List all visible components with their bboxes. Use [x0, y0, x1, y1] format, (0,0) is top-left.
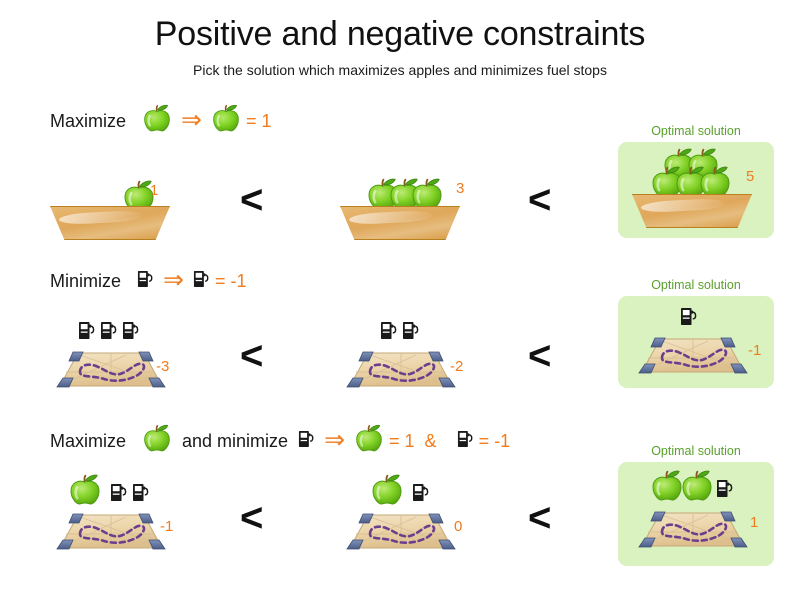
optimal-solution-label: Optimal solution — [618, 444, 774, 458]
apple-icon — [68, 474, 102, 506]
fuel-pump-icon — [716, 478, 734, 498]
route-map-icon — [638, 506, 748, 554]
route-map-icon — [56, 508, 166, 556]
fuel-pump-icon — [680, 306, 698, 326]
apple-icon — [370, 474, 404, 506]
row-equation-equals: = — [215, 271, 226, 292]
comparator-less-than: < — [240, 498, 263, 538]
implies-arrow-icon: ⇒ — [163, 268, 184, 293]
solution-score: -1 — [748, 342, 761, 359]
row-equation-ampersand: & — [425, 431, 437, 452]
solution-score: 1 — [750, 514, 758, 531]
row-equation-value: 1 — [405, 431, 415, 452]
solution-map-three-stops: -3 — [40, 314, 200, 424]
solution-score: 1 — [150, 182, 158, 199]
implies-arrow-icon: ⇒ — [324, 428, 345, 453]
route-map-icon — [56, 346, 166, 394]
optimal-solution-box: 1 — [618, 462, 774, 566]
fuel-pump-icon — [100, 320, 118, 340]
row-verb-label: Maximize — [50, 431, 126, 452]
row-header-combined: Maximize and minimize ⇒ = 1 & = -1 — [50, 424, 510, 458]
fruit-bowl-icon — [340, 206, 460, 240]
comparator-less-than: < — [240, 180, 263, 220]
fuel-pump-icon — [193, 269, 210, 293]
fuel-pump-icon — [78, 320, 96, 340]
fuel-pump-icon — [132, 482, 150, 502]
apple-icon — [142, 424, 172, 458]
apple-icon — [211, 104, 241, 138]
comparator-less-than: < — [240, 336, 263, 376]
row-equation-equals: = — [246, 111, 257, 132]
solution-map-two-stops: -2 — [330, 314, 490, 424]
solution-score: -2 — [450, 358, 463, 375]
page-title: Positive and negative constraints — [0, 16, 800, 53]
route-map-icon — [346, 508, 456, 556]
apple-icon — [354, 424, 384, 458]
row-verb-label: Maximize — [50, 111, 126, 132]
optimal-solution-box: -1 — [618, 296, 774, 388]
apple-icon — [650, 470, 684, 502]
apple-icon — [680, 470, 714, 502]
row-header-maximize-apples: Maximize ⇒ = — [50, 104, 272, 138]
solution-one-apple-one-stop: 0 — [330, 474, 490, 584]
comparator-less-than: < — [528, 180, 551, 220]
solution-score: 5 — [746, 168, 754, 185]
optimal-solution-label: Optimal solution — [618, 124, 774, 138]
route-map-icon — [346, 346, 456, 394]
row-equation-value: 1 — [261, 111, 271, 132]
fuel-pump-icon — [137, 269, 154, 293]
row-equation-value-2: -1 — [494, 431, 510, 452]
solution-one-apple-two-stops: -1 — [40, 474, 200, 584]
optimal-solution-label: Optimal solution — [618, 278, 774, 292]
implies-arrow-icon: ⇒ — [181, 108, 202, 133]
fuel-pump-icon — [380, 320, 398, 340]
solution-score: -1 — [160, 518, 173, 535]
row-header-minimize-fuel: Minimize ⇒ = -1 — [50, 264, 247, 298]
solution-score: -3 — [156, 358, 169, 375]
page-header: Positive and negative constraints Pick t… — [0, 0, 800, 78]
row-conjunction-label: and minimize — [182, 431, 288, 452]
fuel-pump-icon — [110, 482, 128, 502]
fruit-bowl-icon — [632, 194, 752, 228]
comparator-less-than: < — [528, 336, 551, 376]
solution-score: 0 — [454, 518, 462, 535]
optimal-solution-group: Optimal solution -1 — [618, 278, 774, 394]
fuel-pump-icon — [298, 429, 315, 453]
page-subtitle: Pick the solution which maximizes apples… — [0, 62, 800, 78]
row-equation-equals-2: = — [479, 431, 490, 452]
optimal-solution-box: 5 — [618, 142, 774, 238]
optimal-solution-group: Optimal solution 5 — [618, 124, 774, 240]
comparator-less-than: < — [528, 498, 551, 538]
row-equation-equals: = — [389, 431, 400, 452]
fuel-pump-icon — [457, 429, 474, 453]
solution-bowl-one-apple: 1 — [40, 162, 200, 272]
fuel-pump-icon — [122, 320, 140, 340]
row-verb-label: Minimize — [50, 271, 121, 292]
row-equation-value: -1 — [230, 271, 246, 292]
solution-bowl-three-apples: 3 — [330, 162, 490, 272]
fuel-pump-icon — [402, 320, 420, 340]
route-map-icon — [638, 332, 748, 380]
optimal-solution-group: Optimal solution 1 — [618, 444, 774, 570]
solution-score: 3 — [456, 180, 464, 197]
fuel-pump-icon — [412, 482, 430, 502]
apple-icon — [142, 104, 172, 138]
fruit-bowl-icon — [50, 206, 170, 240]
